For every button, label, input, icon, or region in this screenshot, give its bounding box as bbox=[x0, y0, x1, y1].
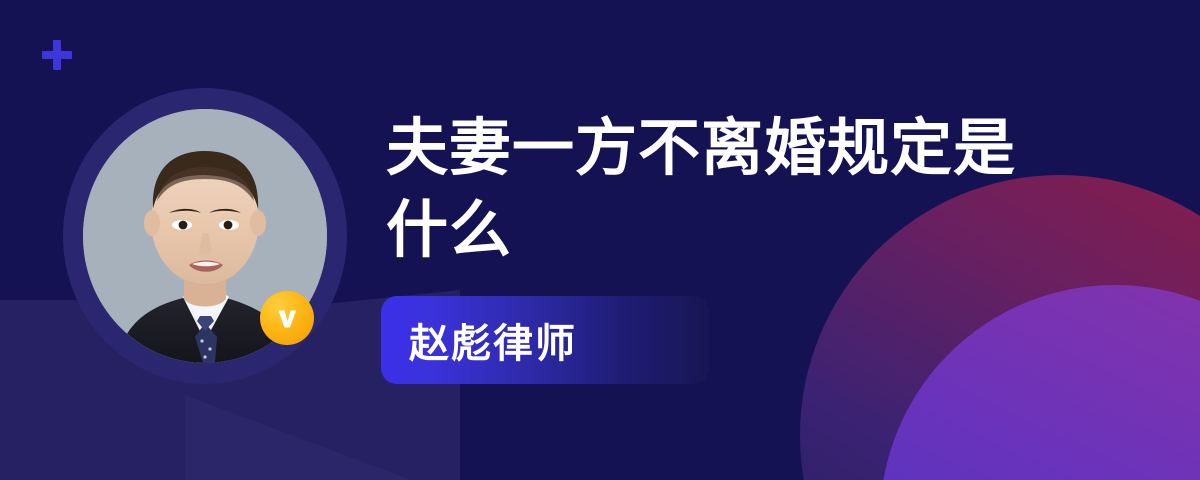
legal-answer-banner: 夫妻一方不离婚规定是什么 赵彪律师 bbox=[0, 0, 1200, 480]
polygon-shape-center bbox=[185, 395, 525, 480]
arc-shape-inner bbox=[880, 285, 1200, 480]
lawyer-name-button[interactable]: 赵彪律师 bbox=[381, 296, 709, 384]
page-title: 夫妻一方不离婚规定是什么 bbox=[386, 108, 1058, 272]
verified-badge-icon bbox=[260, 291, 314, 345]
plus-icon bbox=[42, 40, 72, 70]
headline-block: 夫妻一方不离婚规定是什么 bbox=[386, 108, 1086, 272]
avatar bbox=[63, 88, 347, 384]
